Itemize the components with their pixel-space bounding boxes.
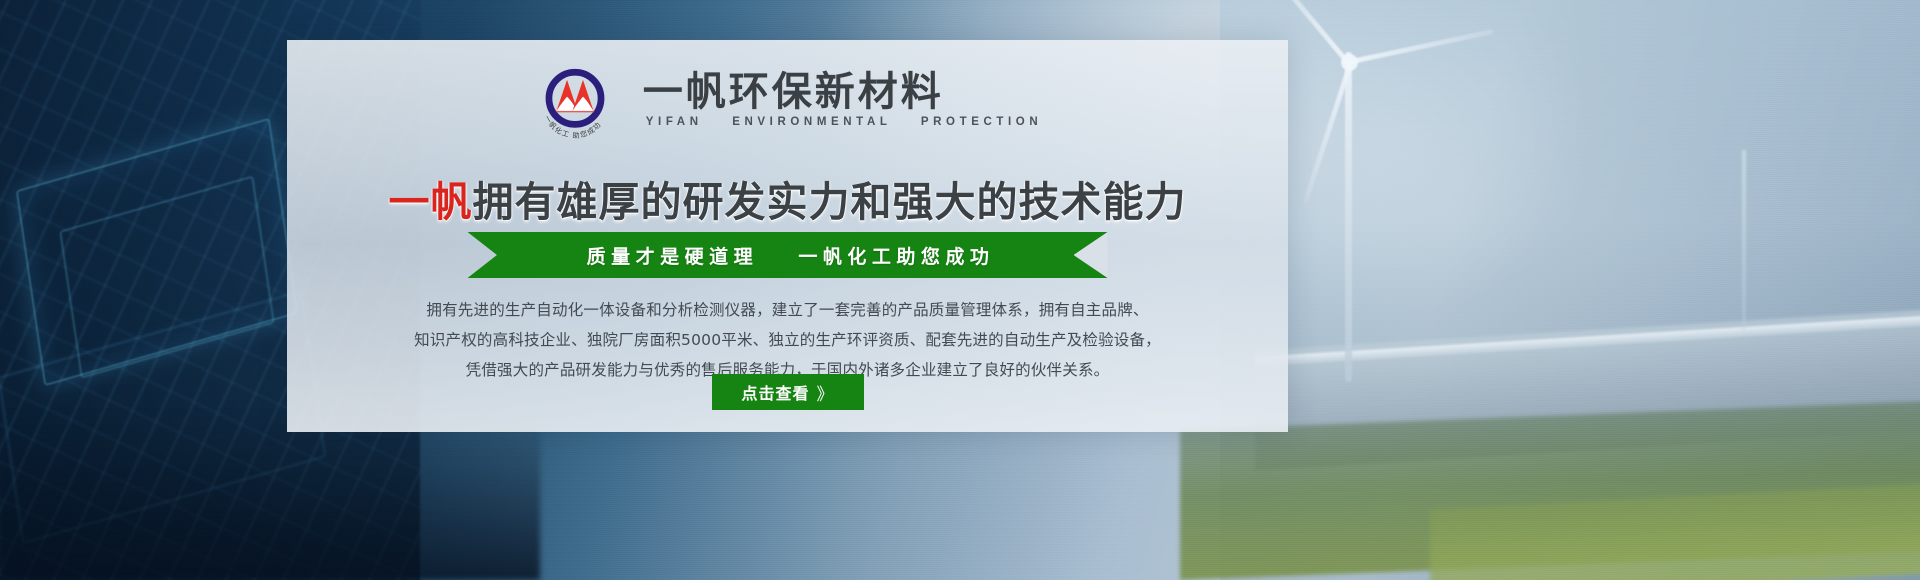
brand-text-block: 一帆环保新材料 YIFAN ENVIRONMENTAL PROTECTION (643, 71, 1043, 130)
slogan-ribbon-wrap: 质量才是硬道理 一帆化工助您成功 (287, 232, 1288, 278)
cta-wrap: 点击查看 》 (287, 374, 1288, 410)
hero-banner: 一帆化工 助您成功 一帆环保新材料 YIFAN ENVIRONMENTAL PR… (0, 0, 1920, 580)
slogan-ribbon: 质量才是硬道理 一帆化工助您成功 (468, 232, 1108, 278)
headline-rest: 拥有雄厚的研发实力和强大的技术能力 (473, 178, 1187, 226)
description-paragraph: 拥有先进的生产自动化一体设备和分析检测仪器，建立了一套完善的产品质量管理体系，拥… (347, 295, 1228, 385)
headline-highlight: 一帆 (389, 178, 473, 226)
slogan-right: 一帆化工助您成功 (798, 246, 994, 268)
double-chevron-right-icon: 》 (817, 380, 834, 405)
slogan-ribbon-text: 质量才是硬道理 一帆化工助您成功 (581, 242, 995, 269)
company-en-word-2: ENVIRONMENTAL (732, 116, 891, 128)
company-name-cn: 一帆环保新材料 (643, 71, 1043, 114)
company-en-word-3: PROTECTION (921, 116, 1042, 128)
cta-label: 点击查看 (741, 380, 809, 404)
description-line: 知识产权的高科技企业、独院厂房面积5000平米、独立的生产环评资质、配套先进的自… (347, 325, 1228, 355)
view-details-button[interactable]: 点击查看 》 (712, 374, 864, 410)
brand-lockup: 一帆化工 助您成功 一帆环保新材料 YIFAN ENVIRONMENTAL PR… (287, 58, 1288, 142)
company-en-word-1: YIFAN (646, 116, 703, 128)
yifan-logo: 一帆化工 助您成功 (533, 58, 617, 142)
content-panel: 一帆化工 助您成功 一帆环保新材料 YIFAN ENVIRONMENTAL PR… (287, 40, 1288, 432)
description-line: 拥有先进的生产自动化一体设备和分析检测仪器，建立了一套完善的产品质量管理体系，拥… (347, 295, 1228, 325)
headline: 一帆拥有雄厚的研发实力和强大的技术能力 (287, 168, 1288, 228)
company-name-en: YIFAN ENVIRONMENTAL PROTECTION (643, 116, 1043, 130)
slogan-left: 质量才是硬道理 (587, 246, 759, 268)
